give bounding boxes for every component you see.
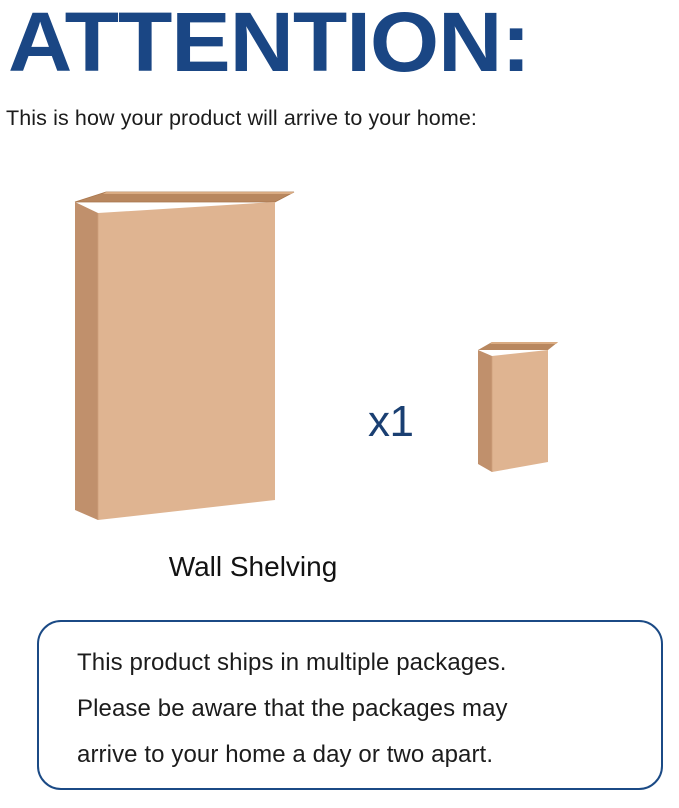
page-title: ATTENTION:	[8, 0, 679, 90]
quantity-label-wall-shelving: x1	[368, 400, 413, 444]
shipping-notice-box: This product ships in multiple packages.…	[37, 620, 663, 790]
notice-line-1: This product ships in multiple packages.	[77, 640, 637, 686]
page-subtitle: This is how your product will arrive to …	[6, 104, 477, 132]
cardboard-box-icon	[462, 328, 582, 488]
notice-line-3: arrive to your home a day or two apart.	[77, 732, 637, 778]
packages-illustration: x1 Wall Shelving x1 Hook	[0, 150, 679, 590]
cardboard-box-icon	[58, 170, 308, 530]
package-caption-wall-shelving: Wall Shelving	[98, 550, 408, 584]
notice-line-2: Please be aware that the packages may	[77, 686, 637, 732]
shipping-notice-text: This product ships in multiple packages.…	[77, 640, 637, 778]
package-item-hook: x1 Hook	[462, 328, 582, 488]
package-item-wall-shelving: x1 Wall Shelving	[58, 170, 308, 530]
